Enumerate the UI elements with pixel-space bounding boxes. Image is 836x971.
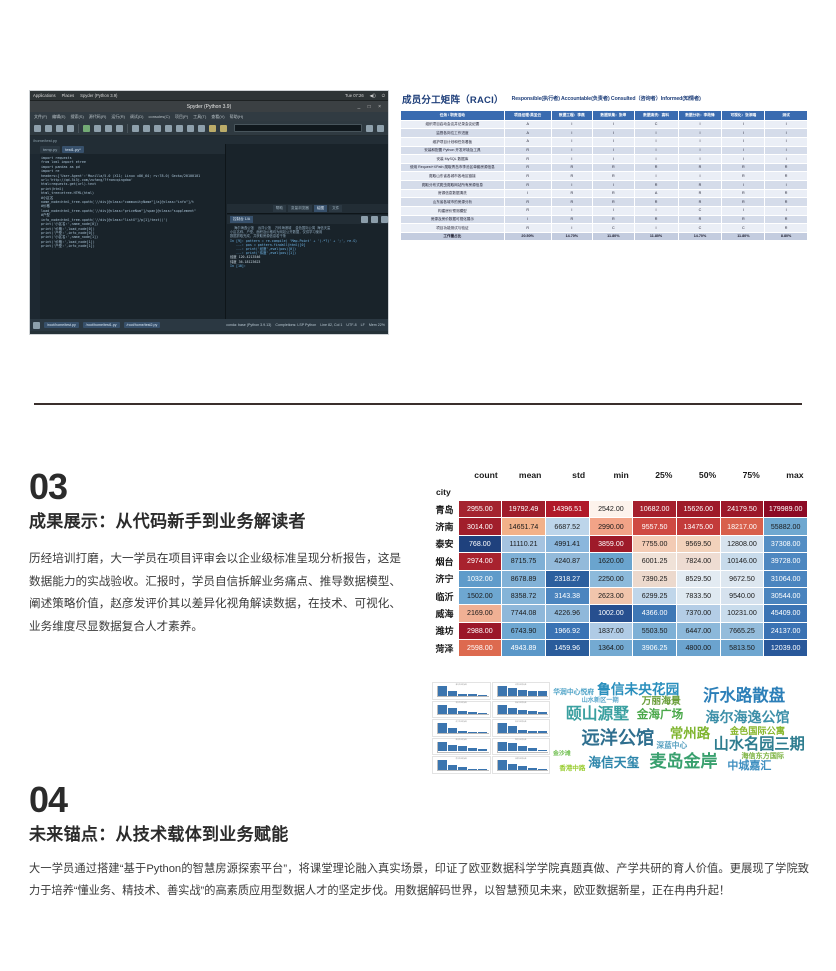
raci-task: 使用 Request+XPath 爬取青岛市李沧区单套房源信息 (401, 163, 505, 172)
heatmap-cell: 9569.50 (676, 535, 720, 552)
raci-cell: I (551, 137, 593, 146)
step-over-icon[interactable] (143, 125, 150, 132)
console-tab[interactable]: 控制台 1/A (230, 216, 253, 223)
editor-tab-test1[interactable]: test1.py* (62, 146, 84, 153)
word-cloud-term: 深蓝中心 (656, 742, 687, 750)
heatmap-cell: 7370.00 (676, 605, 720, 622)
heatmap-cell: 3859.00 (589, 535, 633, 552)
table-row: 使用 Request+XPath 爬取青岛市李沧区单套房源信息 R R R R … (401, 163, 808, 172)
raci-cell: R (678, 163, 722, 172)
bar (438, 760, 447, 770)
raci-cell: I (722, 206, 765, 215)
heatmap-cell: 2990.00 (589, 518, 633, 535)
os-places-menu[interactable]: Places (62, 93, 75, 98)
heatmap-cell: 19792.49 (502, 501, 546, 518)
heatmap-cell: 14396.51 (545, 501, 589, 518)
raci-cell: R (765, 163, 808, 172)
raci-cell: R (765, 224, 808, 233)
word-cloud-term: 麦岛金岸 (649, 753, 717, 770)
heatmap-col-max: max (764, 470, 808, 486)
raci-cell: I (678, 155, 722, 164)
bar-series (438, 760, 488, 770)
heatmap-row-label: 泰安 (432, 535, 458, 552)
table-row: 山东省各城市的房源分析 R R R R R R R (401, 198, 808, 207)
raci-cell: R (678, 189, 722, 198)
heatmap-col-count: count (458, 470, 502, 486)
section-04: 04 未来锚点：从技术载体到业务赋能 大一学员通过搭建“基于Python的智慧房… (29, 783, 809, 903)
raci-task: 爬取山东省各城市各地区链接 (401, 172, 505, 181)
heatmap-cell: 4943.89 (502, 640, 546, 657)
raci-cell: I (765, 206, 808, 215)
mini-chart-title: 潍坊各区房源数 (493, 739, 550, 741)
bar (448, 745, 457, 752)
step-return-icon[interactable] (165, 125, 172, 132)
raci-cell: I (504, 189, 551, 198)
raci-cell: R (504, 155, 551, 164)
bar-series (498, 705, 548, 715)
raci-task: 监督各岗位工作进度 (401, 129, 505, 138)
ide-right-panes: 帮助 变量浏览器 绘图 文件 控制台 1/A 海 (227, 144, 388, 319)
status-eol: LF (361, 323, 365, 327)
bar (498, 760, 507, 770)
raci-cell: I (678, 129, 722, 138)
bar-series (498, 760, 548, 770)
raci-cell: R (722, 198, 765, 207)
window-controls[interactable]: _ □ × (358, 104, 385, 110)
ide-body: /home/test.py temp.py test1.py* import r… (30, 136, 388, 331)
ide-toolbar (30, 121, 388, 136)
raci-cell: I (634, 172, 678, 181)
menu-item-view[interactable]: 查看(V) (211, 114, 224, 120)
run-cell-advance-icon[interactable] (105, 125, 112, 132)
raci-task: 房源及房价数据可视化展示 (401, 215, 505, 224)
heatmap-cell: 39728.00 (764, 553, 808, 570)
table-row: 潍坊2988.006743.901966.921837.005503.50644… (432, 622, 808, 639)
editor-tab-bar: temp.py test1.py* (30, 144, 225, 154)
bar (508, 688, 517, 696)
heatmap-row-label: 菏泽 (432, 640, 458, 657)
console-tab-bar: 控制台 1/A (227, 215, 388, 224)
raci-cell: R (678, 181, 722, 190)
raci-cell: R (593, 189, 635, 198)
mini-bar-chart: 淄博各区房源数 (492, 756, 551, 774)
raci-cell: R (551, 172, 593, 181)
word-cloud-term: 山水名园三期 (714, 737, 805, 752)
heatmap-corner (432, 470, 458, 486)
heatmap-cell: 37308.00 (764, 535, 808, 552)
heatmap-row-label: 济宁 (432, 570, 458, 587)
raci-cell: I (634, 146, 678, 155)
raci-cell: R (504, 224, 551, 233)
heatmap-index-label-row: city (432, 486, 808, 501)
editor-line-number-gutter (30, 154, 40, 319)
heatmap-cell: 3014.00 (458, 518, 502, 535)
raci-cell: C (593, 224, 635, 233)
word-cloud-term: 万丽海景 (642, 697, 681, 707)
raci-table-body: 组织项目启动会议并记录会议纪要 A I I C I I I 监督各岗位工作进度 … (401, 120, 808, 241)
heatmap-cell: 45409.00 (764, 605, 808, 622)
heatmap-cell: 2598.00 (458, 640, 502, 657)
mini-bar-chart: 泰安各区房源数 (432, 701, 491, 719)
raci-cell: I (678, 137, 722, 146)
raci-col-data-collect: 数据采集：张坤 (593, 111, 635, 121)
browse-directory-icon[interactable] (366, 125, 373, 132)
heatmap-cell: 9540.00 (720, 587, 764, 604)
heatmap-cell: 24137.00 (764, 622, 808, 639)
raci-cell: A (504, 120, 551, 129)
menu-item-tools[interactable]: 工具(T) (193, 114, 206, 120)
heatmap-cell: 1966.92 (545, 622, 589, 639)
raci-cell: I (765, 181, 808, 190)
raci-cell: I (593, 129, 635, 138)
mini-chart-title: 烟台各区房源数 (493, 702, 550, 704)
heatmap-cell: 8678.89 (502, 570, 546, 587)
table-row: 安装和配置 Python 开发环境及工具 R I I I I I I (401, 146, 808, 155)
raci-total-cell: 11.80% (722, 232, 765, 241)
raci-cell: I (722, 137, 765, 146)
bar-series (498, 686, 548, 696)
status-conda-env: conda: base (Python 3.9.13) (226, 323, 271, 327)
raci-total-cell: 8.80% (765, 232, 808, 241)
heatmap-cell: 2623.00 (589, 587, 633, 604)
raci-cell: R (551, 215, 593, 224)
file-path-bar: /home/test.py (30, 136, 388, 144)
menu-item-search[interactable]: 搜索(S) (70, 114, 83, 120)
raci-cell: R (551, 198, 593, 207)
mini-bar-chart: 威海各区房源数 (432, 738, 491, 756)
menu-item-debug[interactable]: 调试(D) (130, 114, 144, 120)
heatmap-cell: 1620.00 (589, 553, 633, 570)
table-row: 组织项目启动会议并记录会议纪要 A I I C I I I (401, 120, 808, 129)
heatmap-cell: 13475.00 (676, 518, 720, 535)
heatmap-index-label: city (432, 486, 808, 501)
raci-cell: R (722, 189, 765, 198)
raci-task: 组织项目启动会议并记录会议纪要 (401, 120, 505, 129)
raci-task: 安装和配置 Python 开发环境及工具 (401, 146, 505, 155)
heatmap-cell: 1837.00 (589, 622, 633, 639)
heatmap-cell: 6001.25 (633, 553, 677, 570)
heatmap-cell: 8529.50 (676, 570, 720, 587)
status-completions: Completions: LSP Python (275, 323, 316, 327)
volume-icon[interactable]: ◀)) (370, 93, 376, 98)
raci-cell: I (593, 181, 635, 190)
tab-plots[interactable]: 绘图 (314, 205, 327, 212)
bar (508, 743, 517, 752)
raci-cell: I (593, 155, 635, 164)
new-file-icon[interactable] (34, 125, 41, 132)
code-editor-pane[interactable]: temp.py test1.py* import requests from l… (30, 144, 226, 319)
bar (498, 742, 507, 752)
console-options-icon[interactable] (361, 216, 368, 223)
menu-item-file[interactable]: 文件(F) (34, 114, 47, 120)
raci-cell: R (765, 215, 808, 224)
raci-cell: R (593, 198, 635, 207)
word-cloud-term: 金色国际公寓 (730, 727, 785, 736)
section-03-title: 成果展示：从代码新手到业务解读者 (29, 507, 401, 532)
status-open-file-1[interactable]: /root/home/test.py (44, 322, 79, 328)
word-cloud-term: 海信天玺 (588, 757, 639, 770)
raci-cell: I (504, 215, 551, 224)
menu-item-run[interactable]: 运行(R) (111, 114, 125, 120)
tab-help[interactable]: 帮助 (273, 205, 286, 212)
raci-cell: I (765, 129, 808, 138)
heatmap-cell: 7824.00 (676, 553, 720, 570)
console-minimize-icon[interactable] (371, 216, 378, 223)
word-cloud-term: 金海广场 (637, 709, 683, 721)
heatmap-cell: 1502.00 (458, 587, 502, 604)
raci-total-cell: 11.80% (593, 232, 635, 241)
word-cloud-term: 鲁信未央花园 (597, 683, 679, 697)
raci-cell: I (765, 146, 808, 155)
raci-cell: I (765, 137, 808, 146)
raci-cell: R (722, 172, 765, 181)
table-row: 青岛2955.0019792.4914396.512542.0010682.00… (432, 501, 808, 518)
raci-total-cell: 14.70% (551, 232, 593, 241)
tab-variable-explorer[interactable]: 变量浏览器 (288, 205, 312, 212)
heatmap-cell: 5813.50 (720, 640, 764, 657)
ide-status-bar: /root/home/test.py /root/home/test1.py /… (30, 319, 388, 331)
mini-chart-title: 济南各区房源数 (493, 684, 550, 686)
os-applications-menu[interactable]: Applications (33, 93, 56, 98)
heatmap-cell: 2318.27 (545, 570, 589, 587)
maximize-pane-icon[interactable] (198, 125, 205, 132)
toolbar-separator (78, 124, 79, 133)
raci-cell: R (504, 206, 551, 215)
heatmap-cell: 2988.00 (458, 622, 502, 639)
power-icon[interactable]: ⏻ (382, 93, 385, 98)
save-all-icon[interactable] (67, 125, 74, 132)
raci-table: 任务 / 职责活动 项目经理:吴圣云 数据工程：李燕 数据采集：张坤 数据清洗：… (400, 110, 808, 241)
raci-col-task: 任务 / 职责活动 (401, 111, 505, 121)
raci-task: 项目功能测试与验证 (401, 224, 505, 233)
console-close-icon[interactable] (381, 216, 388, 223)
section-03-number: 03 (29, 470, 401, 504)
raci-cell: A (504, 137, 551, 146)
raci-cell: R (504, 163, 551, 172)
heatmap-cell: 1032.00 (458, 570, 502, 587)
mini-bar-chart: 菏泽各区房源数 (432, 756, 491, 774)
directory-up-icon[interactable] (377, 125, 384, 132)
raci-total-cell: 20.50% (504, 232, 551, 241)
raci-col-data-clean: 数据清洗：高科 (634, 111, 678, 121)
mini-chart-title: 泰安各区房源数 (433, 702, 490, 704)
console-output[interactable]: 海尔海逸公馆 远洋公馆 万科海港城 金色国际公寓 海信天玺 小区名称、户型、面积… (227, 224, 388, 270)
heatmap-cell: 7833.50 (676, 587, 720, 604)
run-icon[interactable] (83, 125, 90, 132)
menu-item-source[interactable]: 源代码(R) (89, 114, 107, 120)
menu-item-projects[interactable]: 项目(P) (175, 114, 188, 120)
table-row: 泰安768.0011110.214991.413859.007755.00956… (432, 535, 808, 552)
top-images-block: Applications Places Spyder (Python 3.9) … (0, 0, 836, 360)
raci-task: 爬取分布式爬虫爬取网站所有房源信息 (401, 181, 505, 190)
heatmap-cell: 2974.00 (458, 553, 502, 570)
raci-cell: I (551, 120, 593, 129)
heatmap-cell: 15626.00 (676, 501, 720, 518)
bar-series (438, 705, 488, 715)
stop-debug-icon[interactable] (187, 125, 194, 132)
raci-total-label: 工作量占比 (401, 232, 505, 241)
os-menu-bar: Applications Places Spyder (Python 3.9) … (30, 91, 388, 101)
raci-cell: R (722, 215, 765, 224)
heatmap-cell: 4240.87 (545, 553, 589, 570)
window-title-bar: Spyder (Python 3.9) _ □ × (30, 101, 388, 112)
raci-cell: R (678, 215, 722, 224)
open-file-icon[interactable] (45, 125, 52, 132)
raci-header: 成员分工矩阵（RACI） Responsible(执行者) Accountabl… (400, 90, 808, 110)
heatmap-cell: 4226.96 (545, 605, 589, 622)
raci-cell: I (634, 224, 678, 233)
heatmap-cell: 2542.00 (589, 501, 633, 518)
heatmap-cell: 7744.08 (502, 605, 546, 622)
bar (508, 708, 517, 715)
word-cloud-term: 中城嘉汇 (727, 761, 771, 772)
plots-pane[interactable]: 帮助 变量浏览器 绘图 文件 (227, 144, 388, 214)
table-row: 构建房价预测模型 R I I I C I I (401, 206, 808, 215)
table-row: 项目功能测试与验证 R I C I C C R (401, 224, 808, 233)
table-row: 济南3014.0014651.746687.522990.009557.5013… (432, 518, 808, 535)
mini-chart-title: 济宁各区房源数 (433, 721, 490, 723)
heatmap-cell: 179989.00 (764, 501, 808, 518)
pythonpath-icon[interactable] (220, 125, 227, 132)
raci-cell: I (722, 120, 765, 129)
heatmap-cell: 2955.00 (458, 501, 502, 518)
heatmap-cell: 1002.00 (589, 605, 633, 622)
section-04-number: 04 (29, 783, 809, 817)
heatmap-cell: 7755.00 (633, 535, 677, 552)
heatmap-cell: 4800.00 (676, 640, 720, 657)
raci-cell: R (551, 163, 593, 172)
window-title: Spyder (Python 3.9) (187, 104, 231, 110)
code-line: load_node=html_tree.xpath('//div[@class=… (41, 209, 223, 213)
heatmap-cell: 5503.50 (633, 622, 677, 639)
heatmap-cell: 14651.74 (502, 518, 546, 535)
word-cloud: 远洋公馆麦岛金岸沂水路散盘颐山源墅山水名园三期海尔海逸公馆鲁信未央花园常州路海信… (553, 682, 808, 774)
raci-cell: I (634, 155, 678, 164)
word-cloud-term: 香港中路 (559, 766, 585, 773)
editor-tab-temp[interactable]: temp.py (40, 146, 60, 153)
word-cloud-term: 山水新区一期 (582, 698, 619, 704)
debug-icon[interactable] (132, 125, 139, 132)
section-03-body: 历经培训打磨，大一学员在项目评审会以企业级标准呈现分析报告，这是数据能力的实战验… (29, 548, 401, 638)
raci-cell: I (551, 206, 593, 215)
table-row: 监督各岗位工作进度 A I I I I I I (401, 129, 808, 138)
raci-cell: I (551, 155, 593, 164)
heatmap-col-p50: 50% (676, 470, 720, 486)
word-cloud-term: 华润中心悦府 (553, 690, 594, 697)
step-into-icon[interactable] (154, 125, 161, 132)
ipython-console-pane[interactable]: 控制台 1/A 海尔海逸公馆 远洋公馆 万科海港城 金色国际公寓 海信天玺 小区… (227, 215, 388, 319)
heatmap-table: count mean std min 25% 50% 75% max city … (432, 470, 808, 657)
mini-bar-chart: 临沂各区房源数 (492, 719, 551, 737)
heatmap-header-row: count mean std min 25% 50% 75% max (432, 470, 808, 486)
mini-bar-chart: 烟台各区房源数 (492, 701, 551, 719)
raci-cell: R (593, 215, 635, 224)
menu-item-edit[interactable]: 编辑(E) (52, 114, 65, 120)
bar-series (438, 742, 488, 752)
raci-cell: C (634, 120, 678, 129)
heatmap-cell: 55882.00 (764, 518, 808, 535)
spyder-ide-screenshot: Applications Places Spyder (Python 3.9) … (29, 90, 389, 335)
mini-chart-title: 淄博各区房源数 (493, 758, 550, 760)
heatmap-body: 青岛2955.0019792.4914396.512542.0010682.00… (432, 501, 808, 657)
save-file-icon[interactable] (56, 125, 63, 132)
heatmap-col-std: std (545, 470, 589, 486)
section-04-title: 未来锚点：从技术载体到业务赋能 (29, 820, 809, 845)
raci-cell: I (765, 155, 808, 164)
raci-cell: A (504, 129, 551, 138)
heatmap-col-p25: 25% (633, 470, 677, 486)
raci-cell: I (722, 129, 765, 138)
raci-task: 安装 MySQL 数据库 (401, 155, 505, 164)
raci-cell: C (678, 206, 722, 215)
raci-cell: A (634, 189, 678, 198)
tab-files[interactable]: 文件 (329, 205, 342, 212)
menu-item-help[interactable]: 帮助(H) (230, 114, 244, 120)
mini-bar-chart: 青岛各区房源数 (432, 682, 491, 700)
heatmap-cell: 12039.00 (764, 640, 808, 657)
raci-task: 山东省各城市的房源分析 (401, 198, 505, 207)
word-cloud-term: 海尔海逸公馆 (705, 710, 789, 724)
status-encoding: UTF-8 (346, 323, 356, 327)
run-cell-icon[interactable] (94, 125, 101, 132)
table-row: 爬取山东省各城市各地区链接 R R R I I R R (401, 172, 808, 181)
menu-item-consoles[interactable]: consoles(C) (148, 114, 169, 119)
heatmap-cell: 12808.00 (720, 535, 764, 552)
section-03-text-column: 03 成果展示：从代码新手到业务解读者 历经培训打磨，大一学员在项目评审会以企业… (29, 470, 401, 639)
heatmap-row-label: 烟台 (432, 553, 458, 570)
raci-cell: R (504, 181, 551, 190)
bar (498, 686, 507, 696)
table-row: 临沂1502.008358.723143.382623.006299.25783… (432, 587, 808, 604)
heatmap-cell: 768.00 (458, 535, 502, 552)
heatmap-cell: 24179.50 (720, 501, 764, 518)
raci-cell: I (551, 146, 593, 155)
status-open-file-3[interactable]: /root/home/test2.py (124, 322, 161, 328)
raci-cell: I (678, 146, 722, 155)
status-open-file-2[interactable]: /root/home/test1.py (83, 322, 120, 328)
continue-icon[interactable] (176, 125, 183, 132)
heatmap-row-label: 青岛 (432, 501, 458, 518)
console-prompt[interactable]: In [10]: (230, 264, 385, 268)
mini-chart-title: 临沂各区房源数 (493, 721, 550, 723)
raci-col-data-analysis: 数据分析：李政锋 (678, 111, 722, 121)
heatmap-cell: 8715.75 (502, 553, 546, 570)
word-cloud-term: 金沙滩 (553, 752, 571, 758)
preferences-wrench-icon[interactable] (209, 125, 216, 132)
heatmap-cell: 6299.25 (633, 587, 677, 604)
table-row: 烟台2974.008715.754240.871620.006001.25782… (432, 553, 808, 570)
raci-cell: R (593, 172, 635, 181)
raci-task: 构建房价预测模型 (401, 206, 505, 215)
editor-code-area[interactable]: import requests from lxml import etree i… (41, 156, 223, 317)
heatmap-cell: 9672.50 (720, 570, 764, 587)
table-row: 安装 MySQL 数据库 R I I I I I I (401, 155, 808, 164)
bar (438, 686, 447, 696)
raci-cell: R (551, 189, 593, 198)
raci-cell: I (678, 120, 722, 129)
working-directory-input[interactable] (234, 124, 362, 132)
word-cloud-term: 海信东方国际 (741, 753, 784, 760)
right-pane-tab-bar: 帮助 变量浏览器 绘图 文件 (227, 204, 388, 213)
heatmap-cell: 11110.21 (502, 535, 546, 552)
section-divider (34, 403, 802, 405)
table-row: 威海2169.007744.084226.961002.004366.00737… (432, 605, 808, 622)
run-selection-icon[interactable] (116, 125, 123, 132)
raci-cell: R (722, 163, 765, 172)
table-row: 维护项目计划和任务看板 A I I I I I I (401, 137, 808, 146)
heatmap-cell: 30544.00 (764, 587, 808, 604)
raci-col-testing: 测试 (765, 111, 808, 121)
